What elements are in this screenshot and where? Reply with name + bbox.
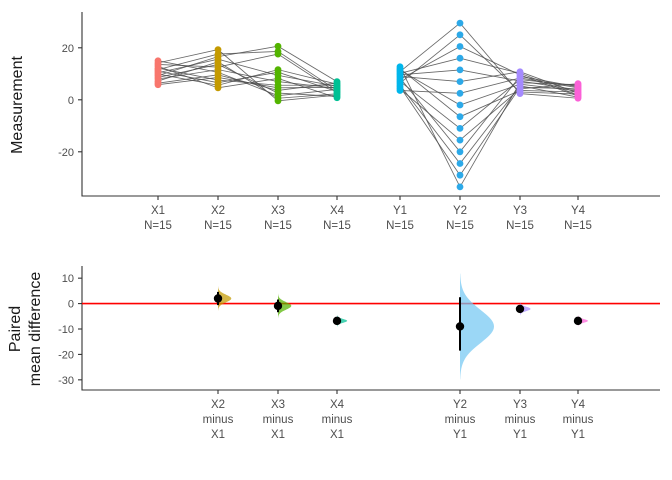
bottom-y-tick-label: -30 xyxy=(58,375,74,387)
bottom-x-tick-minus: minus xyxy=(203,414,234,426)
data-point xyxy=(575,80,582,87)
data-point xyxy=(457,113,464,120)
top-x-tick-label: X1 xyxy=(151,205,165,217)
data-point xyxy=(275,66,282,73)
group-points-X3 xyxy=(275,43,282,104)
top-x-tick-sublabel: N=15 xyxy=(264,220,292,232)
pair-link xyxy=(400,70,578,90)
top-panel-axes xyxy=(82,12,660,196)
top-y-tick-label: 20 xyxy=(62,43,74,55)
bottom-x-tick-minus: minus xyxy=(445,414,476,426)
top-x-tick-sublabel: N=15 xyxy=(446,220,474,232)
data-point xyxy=(334,78,341,85)
data-point xyxy=(457,125,464,132)
top-x-tick-sublabel: N=15 xyxy=(386,220,414,232)
data-point xyxy=(457,148,464,155)
bottom-x-tick-minus: minus xyxy=(563,414,594,426)
data-point xyxy=(457,20,464,27)
mean-difference-dot xyxy=(456,322,464,330)
top-x-tick-sublabel: N=15 xyxy=(144,220,172,232)
bottom-y-axis-title-line1: Paired xyxy=(7,306,24,352)
mean-difference-dot xyxy=(214,294,222,302)
pair-link xyxy=(400,85,578,164)
bottom-x-tick-minus: minus xyxy=(322,414,353,426)
group-points-Y3 xyxy=(517,68,524,97)
group-points-X4 xyxy=(334,78,341,101)
group-points-Y2 xyxy=(457,20,464,191)
mean-difference-dot xyxy=(516,305,524,313)
bottom-y-tick-label: 10 xyxy=(62,273,74,285)
top-panel: 200-20MeasurementX1N=15X2N=15X3N=15X4N=1… xyxy=(9,12,660,232)
bottom-x-tick-reference: Y1 xyxy=(453,429,467,441)
bottom-x-tick-label: X3 xyxy=(271,399,285,411)
bottom-y-axis-title-line2: mean difference xyxy=(27,272,44,387)
group-points-Y1 xyxy=(397,63,404,93)
figure-root: 200-20MeasurementX1N=15X2N=15X3N=15X4N=1… xyxy=(0,0,672,480)
top-x-tick-label: Y2 xyxy=(453,205,467,217)
data-point xyxy=(457,78,464,85)
data-point xyxy=(457,43,464,50)
bottom-x-tick-reference: X1 xyxy=(271,429,285,441)
data-point xyxy=(517,68,524,75)
data-point xyxy=(457,90,464,97)
data-point xyxy=(457,184,464,191)
bottom-x-tick-minus: minus xyxy=(263,414,294,426)
top-y-axis-title: Measurement xyxy=(9,56,26,154)
group-points-X1 xyxy=(155,57,162,88)
top-x-tick-sublabel: N=15 xyxy=(204,220,232,232)
data-point xyxy=(275,43,282,50)
data-point xyxy=(155,57,162,64)
top-y-tick-label: 0 xyxy=(68,95,74,107)
bottom-y-tick-label: -20 xyxy=(58,349,74,361)
pair-link xyxy=(158,64,337,96)
top-x-tick-label: Y4 xyxy=(571,205,586,217)
bottom-y-tick-label: -10 xyxy=(58,324,74,336)
group-points-X2 xyxy=(215,46,222,91)
data-point xyxy=(457,55,464,62)
bottom-panel: 100-10-20-30Pairedmean differenceX2minus… xyxy=(7,266,660,441)
bottom-x-tick-reference: Y1 xyxy=(513,429,527,441)
bottom-x-tick-reference: X1 xyxy=(330,429,344,441)
pair-link xyxy=(400,23,578,98)
data-point xyxy=(397,63,404,70)
bottom-x-tick-reference: X1 xyxy=(211,429,225,441)
pair-link xyxy=(158,66,337,97)
estimation-plot-svg: 200-20MeasurementX1N=15X2N=15X3N=15X4N=1… xyxy=(0,0,672,480)
top-x-tick-label: X3 xyxy=(271,205,285,217)
bottom-y-tick-label: 0 xyxy=(68,299,74,311)
top-x-tick-sublabel: N=15 xyxy=(564,220,592,232)
bottom-y-axis-title: Pairedmean difference xyxy=(7,272,44,387)
group-points-Y4 xyxy=(575,80,582,101)
top-y-tick-label: -20 xyxy=(58,147,74,159)
pair-link xyxy=(400,69,578,117)
bottom-x-tick-label: X4 xyxy=(330,399,345,411)
data-point xyxy=(457,160,464,167)
bottom-panel-axes xyxy=(82,266,660,390)
top-x-tick-sublabel: N=15 xyxy=(506,220,534,232)
bottom-x-tick-label: Y3 xyxy=(513,399,527,411)
bottom-x-tick-label: Y2 xyxy=(453,399,467,411)
top-x-tick-label: X4 xyxy=(330,205,345,217)
top-x-tick-label: X2 xyxy=(211,205,225,217)
bootstrap-distribution xyxy=(460,274,494,380)
data-point xyxy=(215,46,222,53)
top-x-tick-sublabel: N=15 xyxy=(323,220,351,232)
top-x-tick-label: Y1 xyxy=(393,205,407,217)
mean-difference-dot xyxy=(574,317,582,325)
bottom-x-tick-reference: Y1 xyxy=(571,429,585,441)
mean-difference-dot xyxy=(333,317,341,325)
bottom-x-tick-minus: minus xyxy=(505,414,536,426)
pair-link xyxy=(400,87,578,175)
top-x-tick-label: Y3 xyxy=(513,205,527,217)
pair-link xyxy=(400,47,578,97)
data-point xyxy=(457,31,464,38)
bottom-x-tick-label: Y4 xyxy=(571,399,586,411)
mean-difference-dot xyxy=(274,302,282,310)
data-point xyxy=(457,102,464,109)
data-point xyxy=(457,137,464,144)
bottom-x-tick-label: X2 xyxy=(211,399,225,411)
data-point xyxy=(457,67,464,74)
data-point xyxy=(457,172,464,179)
